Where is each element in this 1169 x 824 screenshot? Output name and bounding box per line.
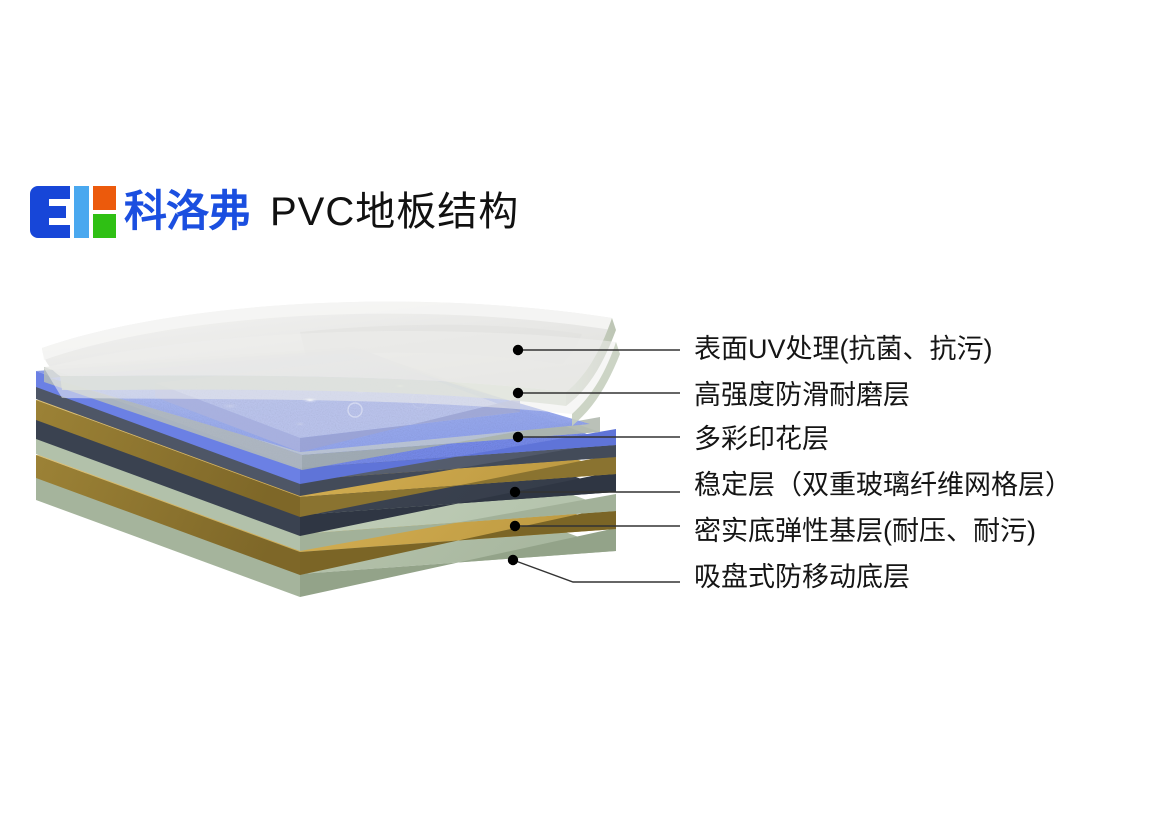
label-stabilizing-layer: 稳定层（双重玻璃纤维网格层） xyxy=(694,472,1072,499)
diagram-canvas: 科洛弗 PVC地板结构 xyxy=(0,0,1169,824)
leader-dot-stabilizing-layer xyxy=(510,487,520,497)
leader-dot-wear-layer xyxy=(513,388,523,398)
label-uv-coating: 表面UV处理(抗菌、抗污) xyxy=(694,336,993,363)
leader-dot-uv-coating xyxy=(513,345,523,355)
leader-dot-print-layer xyxy=(513,432,523,442)
leader-line-suction-backing xyxy=(513,560,680,582)
label-wear-layer: 高强度防滑耐磨层 xyxy=(694,382,910,409)
leader-dot-suction-backing xyxy=(508,555,518,565)
label-dense-base-layer: 密实底弹性基层(耐压、耐污) xyxy=(694,518,1036,545)
label-suction-backing: 吸盘式防移动底层 xyxy=(694,564,910,591)
label-print-layer: 多彩印花层 xyxy=(694,426,829,453)
leader-dot-dense-base-layer xyxy=(510,521,520,531)
layer-stack-illustration xyxy=(0,0,1169,824)
